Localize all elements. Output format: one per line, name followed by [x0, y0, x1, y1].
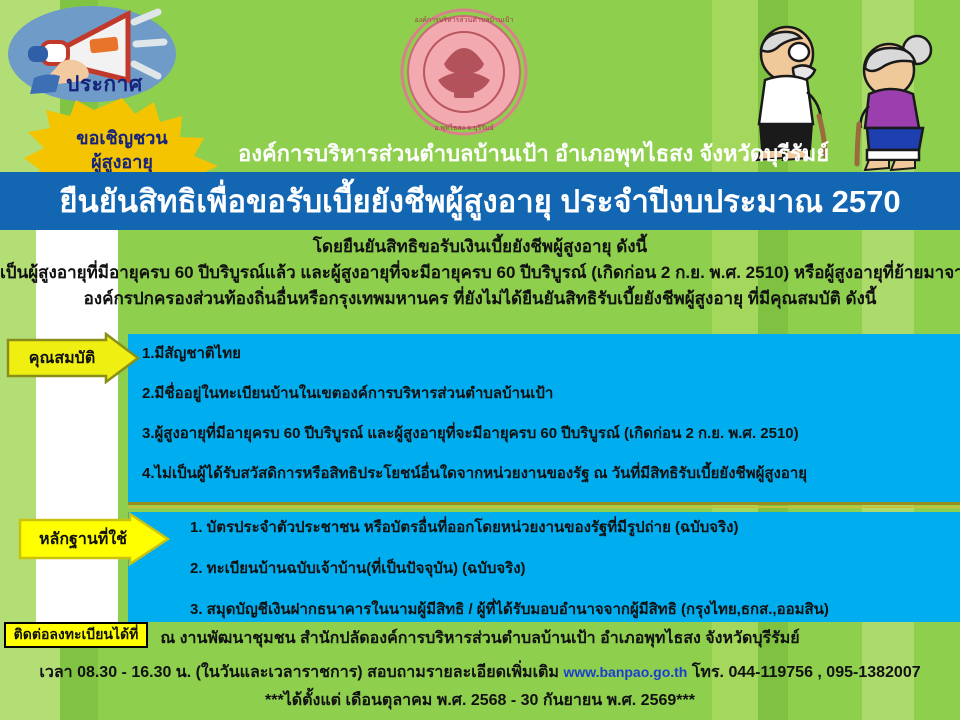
- footer-phone-text: โทร. 044-119756 , 095-1382007: [692, 664, 921, 681]
- organization-name: องค์การบริหารส่วนตำบลบ้านเป้า อำเภอพุทไธ…: [238, 136, 758, 171]
- page-title: ยืนยันสิทธิเพื่อขอรับเบี้ยยังชีพผู้สูงอา…: [0, 172, 960, 230]
- intro-line: โดยยืนยันสิทธิขอรับเงินเบี้ยยังชีพผู้สูง…: [0, 234, 960, 260]
- website-link[interactable]: www.banpao.go.th: [563, 664, 687, 680]
- intro-paragraph: โดยยืนยันสิทธิขอรับเงินเบี้ยยังชีพผู้สูง…: [0, 234, 960, 312]
- qualifications-panel: 1.มีสัญชาติไทย 2.มีชื่ออยู่ในทะเบียนบ้าน…: [128, 334, 960, 502]
- list-item: 4.ไม่เป็นผู้ได้รับสวัสดิการหรือสิทธิประโ…: [142, 464, 946, 483]
- footer-contact-line: เวลา 08.30 - 16.30 น. (ในวันและเวลาราชกา…: [0, 660, 960, 685]
- title-banner: ยืนยันสิทธิเพื่อขอรับเบี้ยยังชีพผู้สูงอา…: [0, 172, 960, 230]
- intro-line: องค์กรปกครองส่วนท้องถิ่นอื่นหรือกรุงเทพม…: [0, 286, 960, 312]
- megaphone-badge: ประกาศ: [8, 6, 176, 110]
- list-item: 3. สมุดบัญชีเงินฝากธนาคารในนามผู้มีสิทธิ…: [190, 600, 946, 619]
- documents-panel: 1. บัตรประจำตัวประชาชน หรือบัตรอื่นที่ออ…: [128, 512, 960, 622]
- list-item: 3.ผู้สูงอายุที่มีอายุครบ 60 ปีบริบูรณ์ แ…: [142, 424, 946, 443]
- footer-place-line: ณ งานพัฒนาชุมชน สำนักปลัดองค์การบริหารส่…: [0, 626, 960, 651]
- panel-divider: [128, 506, 960, 508]
- elderly-woman-icon: [845, 28, 955, 173]
- svg-text:อ.พุทไธสง จ.บุรีรัมย์: อ.พุทไธสง จ.บุรีรัมย์: [434, 123, 494, 132]
- footer-period-line: ***ได้ตั้งแต่ เดือนตุลาคม พ.ศ. 2568 - 30…: [0, 688, 960, 713]
- svg-text:องค์การบริหารส่วนตำบลบ้านเป้า: องค์การบริหารส่วนตำบลบ้านเป้า: [415, 16, 514, 24]
- footer-hours-text: เวลา 08.30 - 16.30 น. (ในวันและเวลาราชกา…: [39, 664, 559, 681]
- panel-divider: [128, 502, 960, 505]
- documents-arrow-label: หลักฐานที่ใช้: [18, 512, 170, 566]
- qualifications-arrow-label: คุณสมบัติ: [6, 332, 140, 384]
- qualifications-list: 1.มีสัญชาติไทย 2.มีชื่ออยู่ในทะเบียนบ้าน…: [128, 334, 960, 502]
- list-item: 2.มีชื่ออยู่ในทะเบียนบ้านในเขตองค์การบริ…: [142, 384, 946, 403]
- list-item: 1. บัตรประจำตัวประชาชน หรือบัตรอื่นที่ออ…: [190, 518, 946, 537]
- announcement-poster: ประกาศ ขอเชิญชวน ผู้สูงอายุ องค์การบริหา…: [0, 0, 960, 720]
- intro-line: เป็นผู้สูงอายุที่มีอายุครบ 60 ปีบริบูรณ์…: [0, 260, 960, 286]
- invite-line-2: ผู้สูงอายุ: [91, 153, 153, 171]
- documents-arrow-tag: หลักฐานที่ใช้: [18, 512, 170, 566]
- qualifications-arrow-tag: คุณสมบัติ: [6, 332, 140, 384]
- invite-line-1: ขอเชิญชวน: [76, 129, 167, 147]
- official-seal-icon: องค์การบริหารส่วนตำบลบ้านเป้า อ.พุทไธสง …: [398, 6, 530, 138]
- list-item: 2. ทะเบียนบ้านฉบับเจ้าบ้าน(ที่เป็นปัจจุบ…: [190, 559, 946, 578]
- documents-list: 1. บัตรประจำตัวประชาชน หรือบัตรอื่นที่ออ…: [128, 512, 960, 622]
- list-item: 1.มีสัญชาติไทย: [142, 344, 946, 363]
